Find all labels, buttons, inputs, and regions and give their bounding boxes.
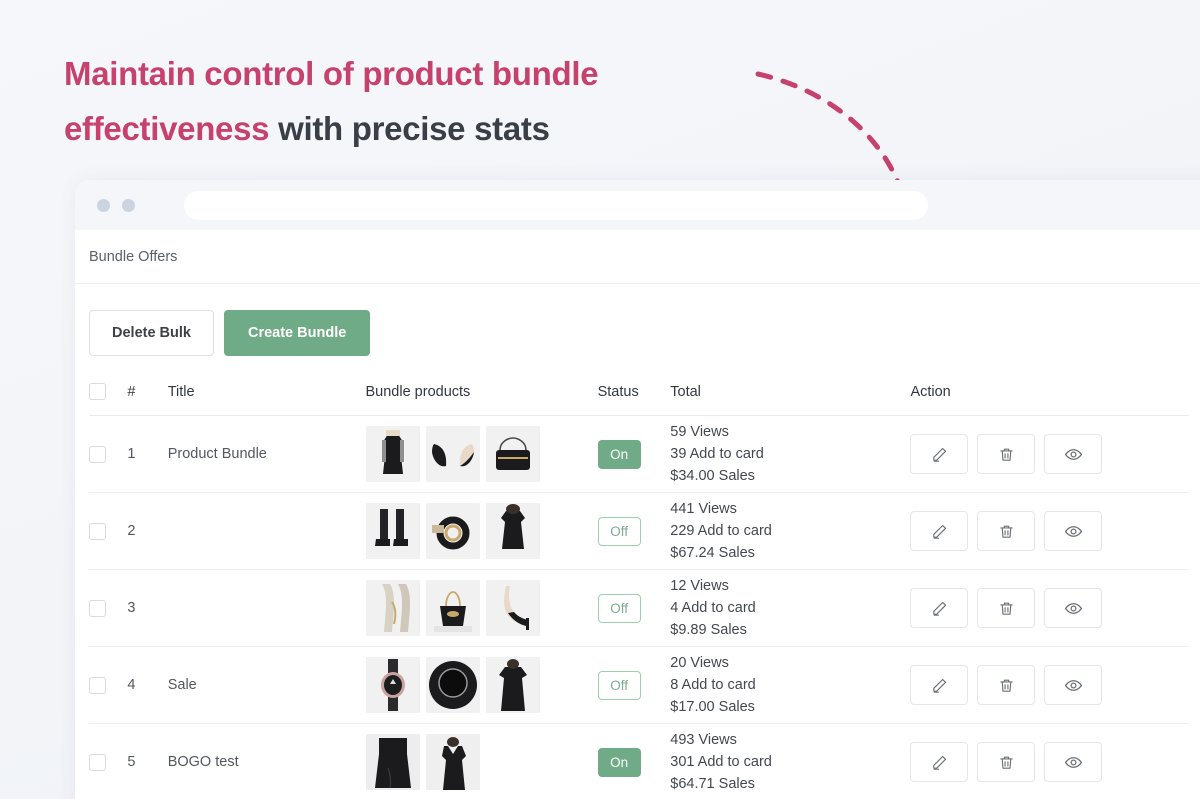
- product-thumbnail-black-tshirt-dress[interactable]: [486, 657, 540, 713]
- header-title: Title: [168, 383, 366, 416]
- header-total: Total: [670, 383, 910, 416]
- table-row: 3Off12 Views4 Add to card$9.89 Sales: [89, 570, 1189, 647]
- status-badge[interactable]: Off: [598, 671, 641, 700]
- eye-button[interactable]: [1044, 434, 1102, 474]
- thumbnail-group: [366, 734, 598, 790]
- product-thumbnail-black-stiletto-heels[interactable]: [486, 580, 540, 636]
- row-title: Product Bundle: [168, 416, 366, 493]
- row-actions: [910, 570, 1189, 647]
- status-badge[interactable]: On: [598, 748, 641, 777]
- header-bundle-products: Bundle products: [366, 383, 598, 416]
- create-bundle-button[interactable]: Create Bundle: [224, 310, 370, 356]
- product-thumbnail-black-crossbody-bag[interactable]: [486, 426, 540, 482]
- product-thumbnail-black-bucket-bag[interactable]: [426, 580, 480, 636]
- eye-icon: [1064, 522, 1083, 541]
- row-bundle-products: [366, 493, 598, 570]
- product-thumbnail-black-sleeveless-top[interactable]: [486, 503, 540, 559]
- row-status: On: [598, 724, 671, 799]
- row-number: 1: [127, 416, 167, 493]
- select-all-checkbox[interactable]: [89, 383, 106, 400]
- trash-button[interactable]: [977, 434, 1035, 474]
- stat-views: 493 Views: [670, 729, 910, 751]
- content-area: Delete Bulk Create Bundle # Title Bundle: [75, 284, 1200, 799]
- eye-button[interactable]: [1044, 742, 1102, 782]
- row-checkbox[interactable]: [89, 600, 106, 617]
- edit-button[interactable]: [910, 588, 968, 628]
- thumbnail-group: [366, 657, 598, 713]
- row-checkbox[interactable]: [89, 754, 106, 771]
- row-number: 4: [127, 647, 167, 724]
- stats-block: 493 Views301 Add to card$64.71 Sales: [670, 729, 910, 795]
- header-select-all: [89, 383, 127, 416]
- row-select-cell: [89, 493, 127, 570]
- stat-sales: $64.71 Sales: [670, 773, 910, 795]
- row-status: Off: [598, 647, 671, 724]
- stat-sales: $67.24 Sales: [670, 542, 910, 564]
- row-status: Off: [598, 570, 671, 647]
- stats-block: 12 Views4 Add to card$9.89 Sales: [670, 575, 910, 641]
- row-select-cell: [89, 570, 127, 647]
- trash-button[interactable]: [977, 588, 1035, 628]
- product-thumbnail-black-gold-buckle-belt[interactable]: [426, 503, 480, 559]
- row-number: 5: [127, 724, 167, 799]
- trash-icon: [998, 754, 1015, 771]
- row-select-cell: [89, 416, 127, 493]
- browser-chrome: [75, 180, 1200, 230]
- header-action: Action: [910, 383, 1189, 416]
- row-total: 12 Views4 Add to card$9.89 Sales: [670, 570, 910, 647]
- row-status: On: [598, 416, 671, 493]
- table-body: 1Product BundleOn59 Views39 Add to card$…: [89, 416, 1189, 799]
- row-total: 20 Views8 Add to card$17.00 Sales: [670, 647, 910, 724]
- app-topbar: Bundle Offers: [75, 230, 1200, 284]
- stat-views: 59 Views: [670, 421, 910, 443]
- row-bundle-products: [366, 416, 598, 493]
- row-select-cell: [89, 724, 127, 799]
- stat-add-to-card: 229 Add to card: [670, 520, 910, 542]
- action-button-group: [910, 588, 1189, 628]
- trash-button[interactable]: [977, 665, 1035, 705]
- product-thumbnail-black-vneck-dress[interactable]: [426, 734, 480, 790]
- action-button-group: [910, 665, 1189, 705]
- app-body: Bundle Offers Delete Bulk Create Bundle: [75, 230, 1200, 799]
- row-number: 2: [127, 493, 167, 570]
- eye-icon: [1064, 753, 1083, 772]
- header-status: Status: [598, 383, 671, 416]
- product-thumbnail-black-wide-brim-hat[interactable]: [426, 657, 480, 713]
- edit-icon: [931, 523, 948, 540]
- action-button-group: [910, 511, 1189, 551]
- trash-icon: [998, 446, 1015, 463]
- row-bundle-products: [366, 724, 598, 799]
- edit-icon: [931, 677, 948, 694]
- product-thumbnail-beige-scarf-with-chain[interactable]: [366, 580, 420, 636]
- table-row: 4SaleOff20 Views8 Add to card$17.00 Sale…: [89, 647, 1189, 724]
- window-dot-1-icon[interactable]: [97, 199, 110, 212]
- page-headline: Maintain control of product bundle effec…: [64, 46, 764, 157]
- eye-icon: [1064, 599, 1083, 618]
- stats-block: 441 Views229 Add to card$67.24 Sales: [670, 498, 910, 564]
- row-actions: [910, 416, 1189, 493]
- row-checkbox[interactable]: [89, 677, 106, 694]
- stat-add-to-card: 8 Add to card: [670, 674, 910, 696]
- eye-icon: [1064, 445, 1083, 464]
- stat-views: 441 Views: [670, 498, 910, 520]
- thumbnail-group: [366, 503, 598, 559]
- product-thumbnail-black-leather-watch[interactable]: [366, 657, 420, 713]
- row-total: 493 Views301 Add to card$64.71 Sales: [670, 724, 910, 799]
- edit-button[interactable]: [910, 511, 968, 551]
- trash-icon: [998, 523, 1015, 540]
- stat-views: 12 Views: [670, 575, 910, 597]
- eye-button[interactable]: [1044, 588, 1102, 628]
- window-controls: [97, 199, 135, 212]
- toolbar: Delete Bulk Create Bundle: [89, 310, 1200, 356]
- row-title: [168, 493, 366, 570]
- stat-views: 20 Views: [670, 652, 910, 674]
- row-actions: [910, 724, 1189, 799]
- stats-block: 59 Views39 Add to card$34.00 Sales: [670, 421, 910, 487]
- edit-icon: [931, 600, 948, 617]
- eye-icon: [1064, 676, 1083, 695]
- edit-button[interactable]: [910, 434, 968, 474]
- row-bundle-products: [366, 647, 598, 724]
- thumbnail-group: [366, 580, 598, 636]
- table-row: 1Product BundleOn59 Views39 Add to card$…: [89, 416, 1189, 493]
- stat-add-to-card: 301 Add to card: [670, 751, 910, 773]
- edit-icon: [931, 446, 948, 463]
- row-total: 441 Views229 Add to card$67.24 Sales: [670, 493, 910, 570]
- product-thumbnail-black-mini-skirt[interactable]: [366, 734, 420, 790]
- table-header: # Title Bundle products Status Total Act…: [89, 383, 1189, 416]
- stat-add-to-card: 4 Add to card: [670, 597, 910, 619]
- row-total: 59 Views39 Add to card$34.00 Sales: [670, 416, 910, 493]
- eye-button[interactable]: [1044, 665, 1102, 705]
- header-number: #: [127, 383, 167, 416]
- stat-add-to-card: 39 Add to card: [670, 443, 910, 465]
- browser-window: Bundle Offers Delete Bulk Create Bundle: [75, 180, 1200, 799]
- trash-icon: [998, 600, 1015, 617]
- edit-button[interactable]: [910, 742, 968, 782]
- row-title: Sale: [168, 647, 366, 724]
- trash-button[interactable]: [977, 742, 1035, 782]
- row-actions: [910, 493, 1189, 570]
- trash-icon: [998, 677, 1015, 694]
- action-button-group: [910, 434, 1189, 474]
- row-select-cell: [89, 647, 127, 724]
- page-title: Bundle Offers: [89, 249, 177, 265]
- row-title: BOGO test: [168, 724, 366, 799]
- table-row: 5BOGO testOn493 Views301 Add to card$64.…: [89, 724, 1189, 799]
- status-badge[interactable]: On: [598, 440, 641, 469]
- product-thumbnail-black-loafers-on-legs[interactable]: [366, 503, 420, 559]
- edit-icon: [931, 754, 948, 771]
- row-checkbox[interactable]: [89, 446, 106, 463]
- status-badge[interactable]: Off: [598, 517, 641, 546]
- row-bundle-products: [366, 570, 598, 647]
- thumbnail-group: [366, 426, 598, 482]
- status-badge[interactable]: Off: [598, 594, 641, 623]
- product-thumbnail-black-sleeveless-dress[interactable]: [366, 426, 420, 482]
- window-dot-2-icon[interactable]: [122, 199, 135, 212]
- edit-button[interactable]: [910, 665, 968, 705]
- stat-sales: $17.00 Sales: [670, 696, 910, 718]
- table-row: 2Off441 Views229 Add to card$67.24 Sales: [89, 493, 1189, 570]
- product-thumbnail-black-pointed-flats-pair[interactable]: [426, 426, 480, 482]
- table-header-row: # Title Bundle products Status Total Act…: [89, 383, 1189, 416]
- bundle-offers-table: # Title Bundle products Status Total Act…: [89, 383, 1189, 799]
- stats-block: 20 Views8 Add to card$17.00 Sales: [670, 652, 910, 718]
- eye-button[interactable]: [1044, 511, 1102, 551]
- row-status: Off: [598, 493, 671, 570]
- trash-button[interactable]: [977, 511, 1035, 551]
- stat-sales: $9.89 Sales: [670, 619, 910, 641]
- action-button-group: [910, 742, 1189, 782]
- row-actions: [910, 647, 1189, 724]
- stat-sales: $34.00 Sales: [670, 465, 910, 487]
- row-checkbox[interactable]: [89, 523, 106, 540]
- row-number: 3: [127, 570, 167, 647]
- url-bar[interactable]: [184, 191, 928, 220]
- delete-bulk-button[interactable]: Delete Bulk: [89, 310, 214, 356]
- headline-rest: with precise stats: [269, 110, 549, 147]
- row-title: [168, 570, 366, 647]
